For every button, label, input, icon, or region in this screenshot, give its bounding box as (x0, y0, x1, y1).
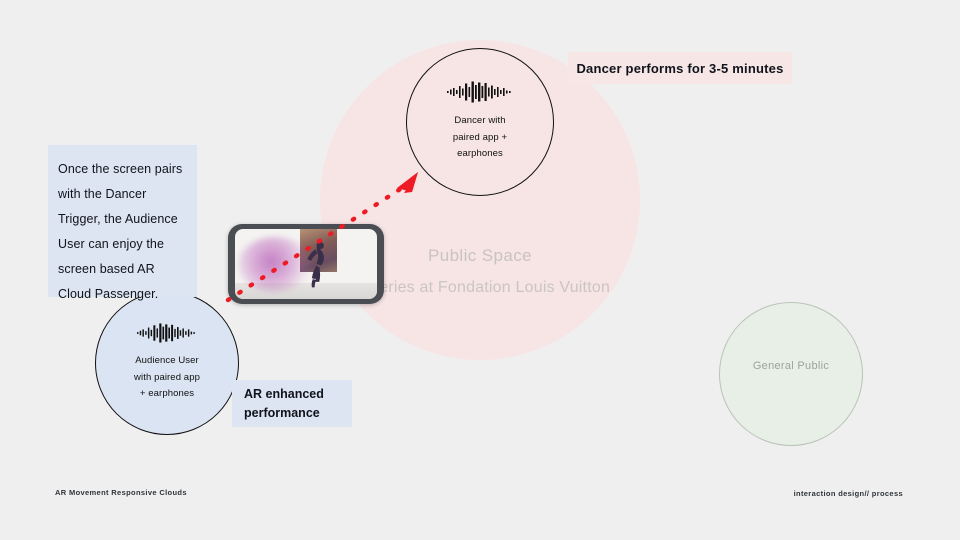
audio-waveform-icon (136, 323, 198, 348)
actor-dancer-line1: Dancer with (453, 113, 507, 130)
phone-mockup[interactable] (228, 224, 384, 304)
actor-audience-line3: + earphones (134, 386, 200, 403)
callout-pairing-note: Once the screen pairs with the Dancer Tr… (48, 145, 197, 297)
footer-section-label: interaction design// process (794, 489, 903, 498)
callout-ar-performance: AR enhanced performance (232, 380, 352, 427)
callout-ar-line2: performance (244, 404, 352, 422)
actor-dancer-line2: paired app + (453, 130, 507, 147)
actor-dancer[interactable]: Dancer with paired app + earphones (406, 48, 554, 196)
dancer-figure (297, 240, 340, 295)
general-public-zone (719, 302, 863, 446)
actor-audience-user[interactable]: Audience User with paired app + earphone… (95, 291, 239, 435)
actor-audience-line1: Audience User (134, 353, 200, 370)
general-public-label: General Public (719, 360, 863, 372)
callout-dancer-duration: Dancer performs for 3-5 minutes (568, 52, 792, 84)
actor-audience-line2: with paired app (134, 370, 200, 387)
callout-ar-line1: AR enhanced (244, 385, 352, 403)
phone-screen (235, 229, 377, 299)
audio-waveform-icon (447, 81, 513, 108)
slide-canvas: Public Space Galleries at Fondation Loui… (0, 0, 960, 540)
actor-dancer-line3: earphones (453, 146, 507, 163)
footer-project-title: AR Movement Responsive Clouds (55, 488, 187, 497)
